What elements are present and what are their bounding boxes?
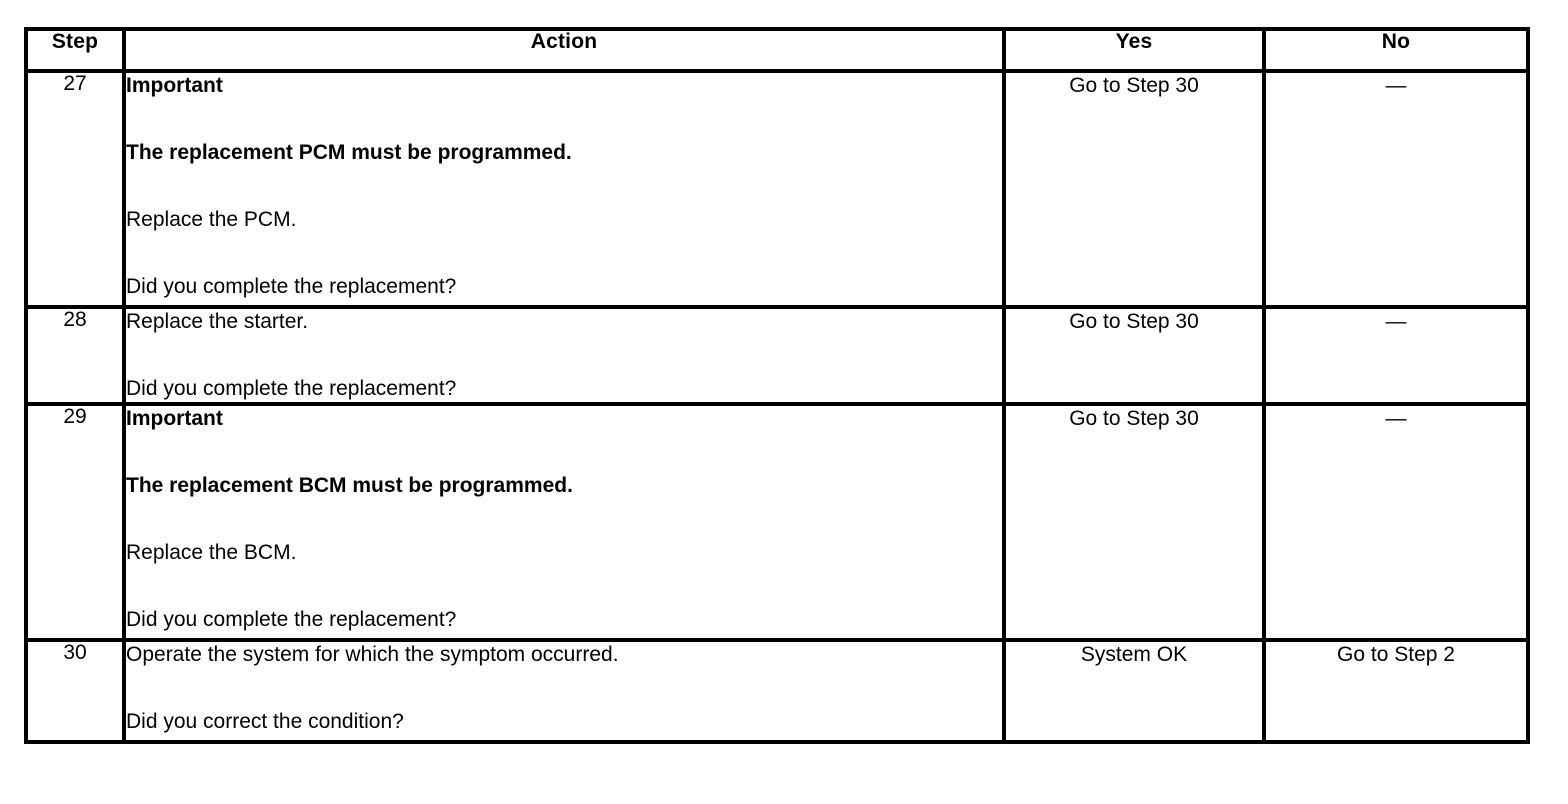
paragraph-spacer <box>126 233 1002 274</box>
action-line: Replace the BCM. <box>126 540 1002 566</box>
paragraph-spacer <box>126 432 1002 473</box>
table-row: 28Replace the starter.Did you complete t… <box>26 307 1528 404</box>
action-text-block: ImportantThe replacement PCM must be pro… <box>126 73 1002 300</box>
no-answer-text: — <box>1266 73 1526 99</box>
column-header-yes: Yes <box>1004 29 1264 71</box>
step-number-cell: 29 <box>26 404 124 640</box>
diagnostic-steps-table: Step Action Yes No 27ImportantThe replac… <box>24 27 1530 744</box>
yes-answer-cell: Go to Step 30 <box>1004 71 1264 307</box>
column-header-no: No <box>1264 29 1528 71</box>
action-line-bold: Important <box>126 406 1002 432</box>
no-answer-cell: — <box>1264 71 1528 307</box>
table-header: Step Action Yes No <box>26 29 1528 71</box>
action-line: Operate the system for which the symptom… <box>126 642 1002 668</box>
action-text-block: Operate the system for which the symptom… <box>126 642 1002 735</box>
step-number-cell: 27 <box>26 71 124 307</box>
paragraph-spacer <box>126 668 1002 709</box>
table-header-row: Step Action Yes No <box>26 29 1528 71</box>
table-body: 27ImportantThe replacement PCM must be p… <box>26 71 1528 742</box>
yes-answer-text: Go to Step 30 <box>1006 406 1262 432</box>
page-root: Step Action Yes No 27ImportantThe replac… <box>0 0 1568 804</box>
paragraph-spacer <box>126 335 1002 376</box>
action-line: Did you complete the replacement? <box>126 274 1002 300</box>
paragraph-spacer <box>126 99 1002 140</box>
column-header-step: Step <box>26 29 124 71</box>
action-line: Replace the starter. <box>126 309 1002 335</box>
yes-answer-cell: System OK <box>1004 640 1264 742</box>
action-line: Did you complete the replacement? <box>126 607 1002 633</box>
action-cell: Operate the system for which the symptom… <box>124 640 1004 742</box>
action-line-bold: The replacement PCM must be programmed. <box>126 140 1002 166</box>
action-line-bold: The replacement BCM must be programmed. <box>126 473 1002 499</box>
no-answer-text: — <box>1266 309 1526 335</box>
yes-answer-text: System OK <box>1006 642 1262 668</box>
action-text-block: ImportantThe replacement BCM must be pro… <box>126 406 1002 633</box>
paragraph-spacer <box>126 499 1002 540</box>
action-cell: ImportantThe replacement BCM must be pro… <box>124 404 1004 640</box>
action-text-block: Replace the starter.Did you complete the… <box>126 309 1002 402</box>
table-row: 27ImportantThe replacement PCM must be p… <box>26 71 1528 307</box>
table-row: 30Operate the system for which the sympt… <box>26 640 1528 742</box>
action-cell: ImportantThe replacement PCM must be pro… <box>124 71 1004 307</box>
paragraph-spacer <box>126 166 1002 207</box>
no-answer-cell: Go to Step 2 <box>1264 640 1528 742</box>
column-header-action: Action <box>124 29 1004 71</box>
yes-answer-text: Go to Step 30 <box>1006 73 1262 99</box>
no-answer-cell: — <box>1264 307 1528 404</box>
no-answer-text: Go to Step 2 <box>1266 642 1526 668</box>
step-number-cell: 30 <box>26 640 124 742</box>
action-line-bold: Important <box>126 73 1002 99</box>
step-number-cell: 28 <box>26 307 124 404</box>
no-answer-text: — <box>1266 406 1526 432</box>
yes-answer-cell: Go to Step 30 <box>1004 404 1264 640</box>
action-line: Replace the PCM. <box>126 207 1002 233</box>
paragraph-spacer <box>126 566 1002 607</box>
no-answer-cell: — <box>1264 404 1528 640</box>
action-line: Did you complete the replacement? <box>126 376 1002 402</box>
table-row: 29ImportantThe replacement BCM must be p… <box>26 404 1528 640</box>
yes-answer-cell: Go to Step 30 <box>1004 307 1264 404</box>
action-cell: Replace the starter.Did you complete the… <box>124 307 1004 404</box>
yes-answer-text: Go to Step 30 <box>1006 309 1262 335</box>
action-line: Did you correct the condition? <box>126 709 1002 735</box>
